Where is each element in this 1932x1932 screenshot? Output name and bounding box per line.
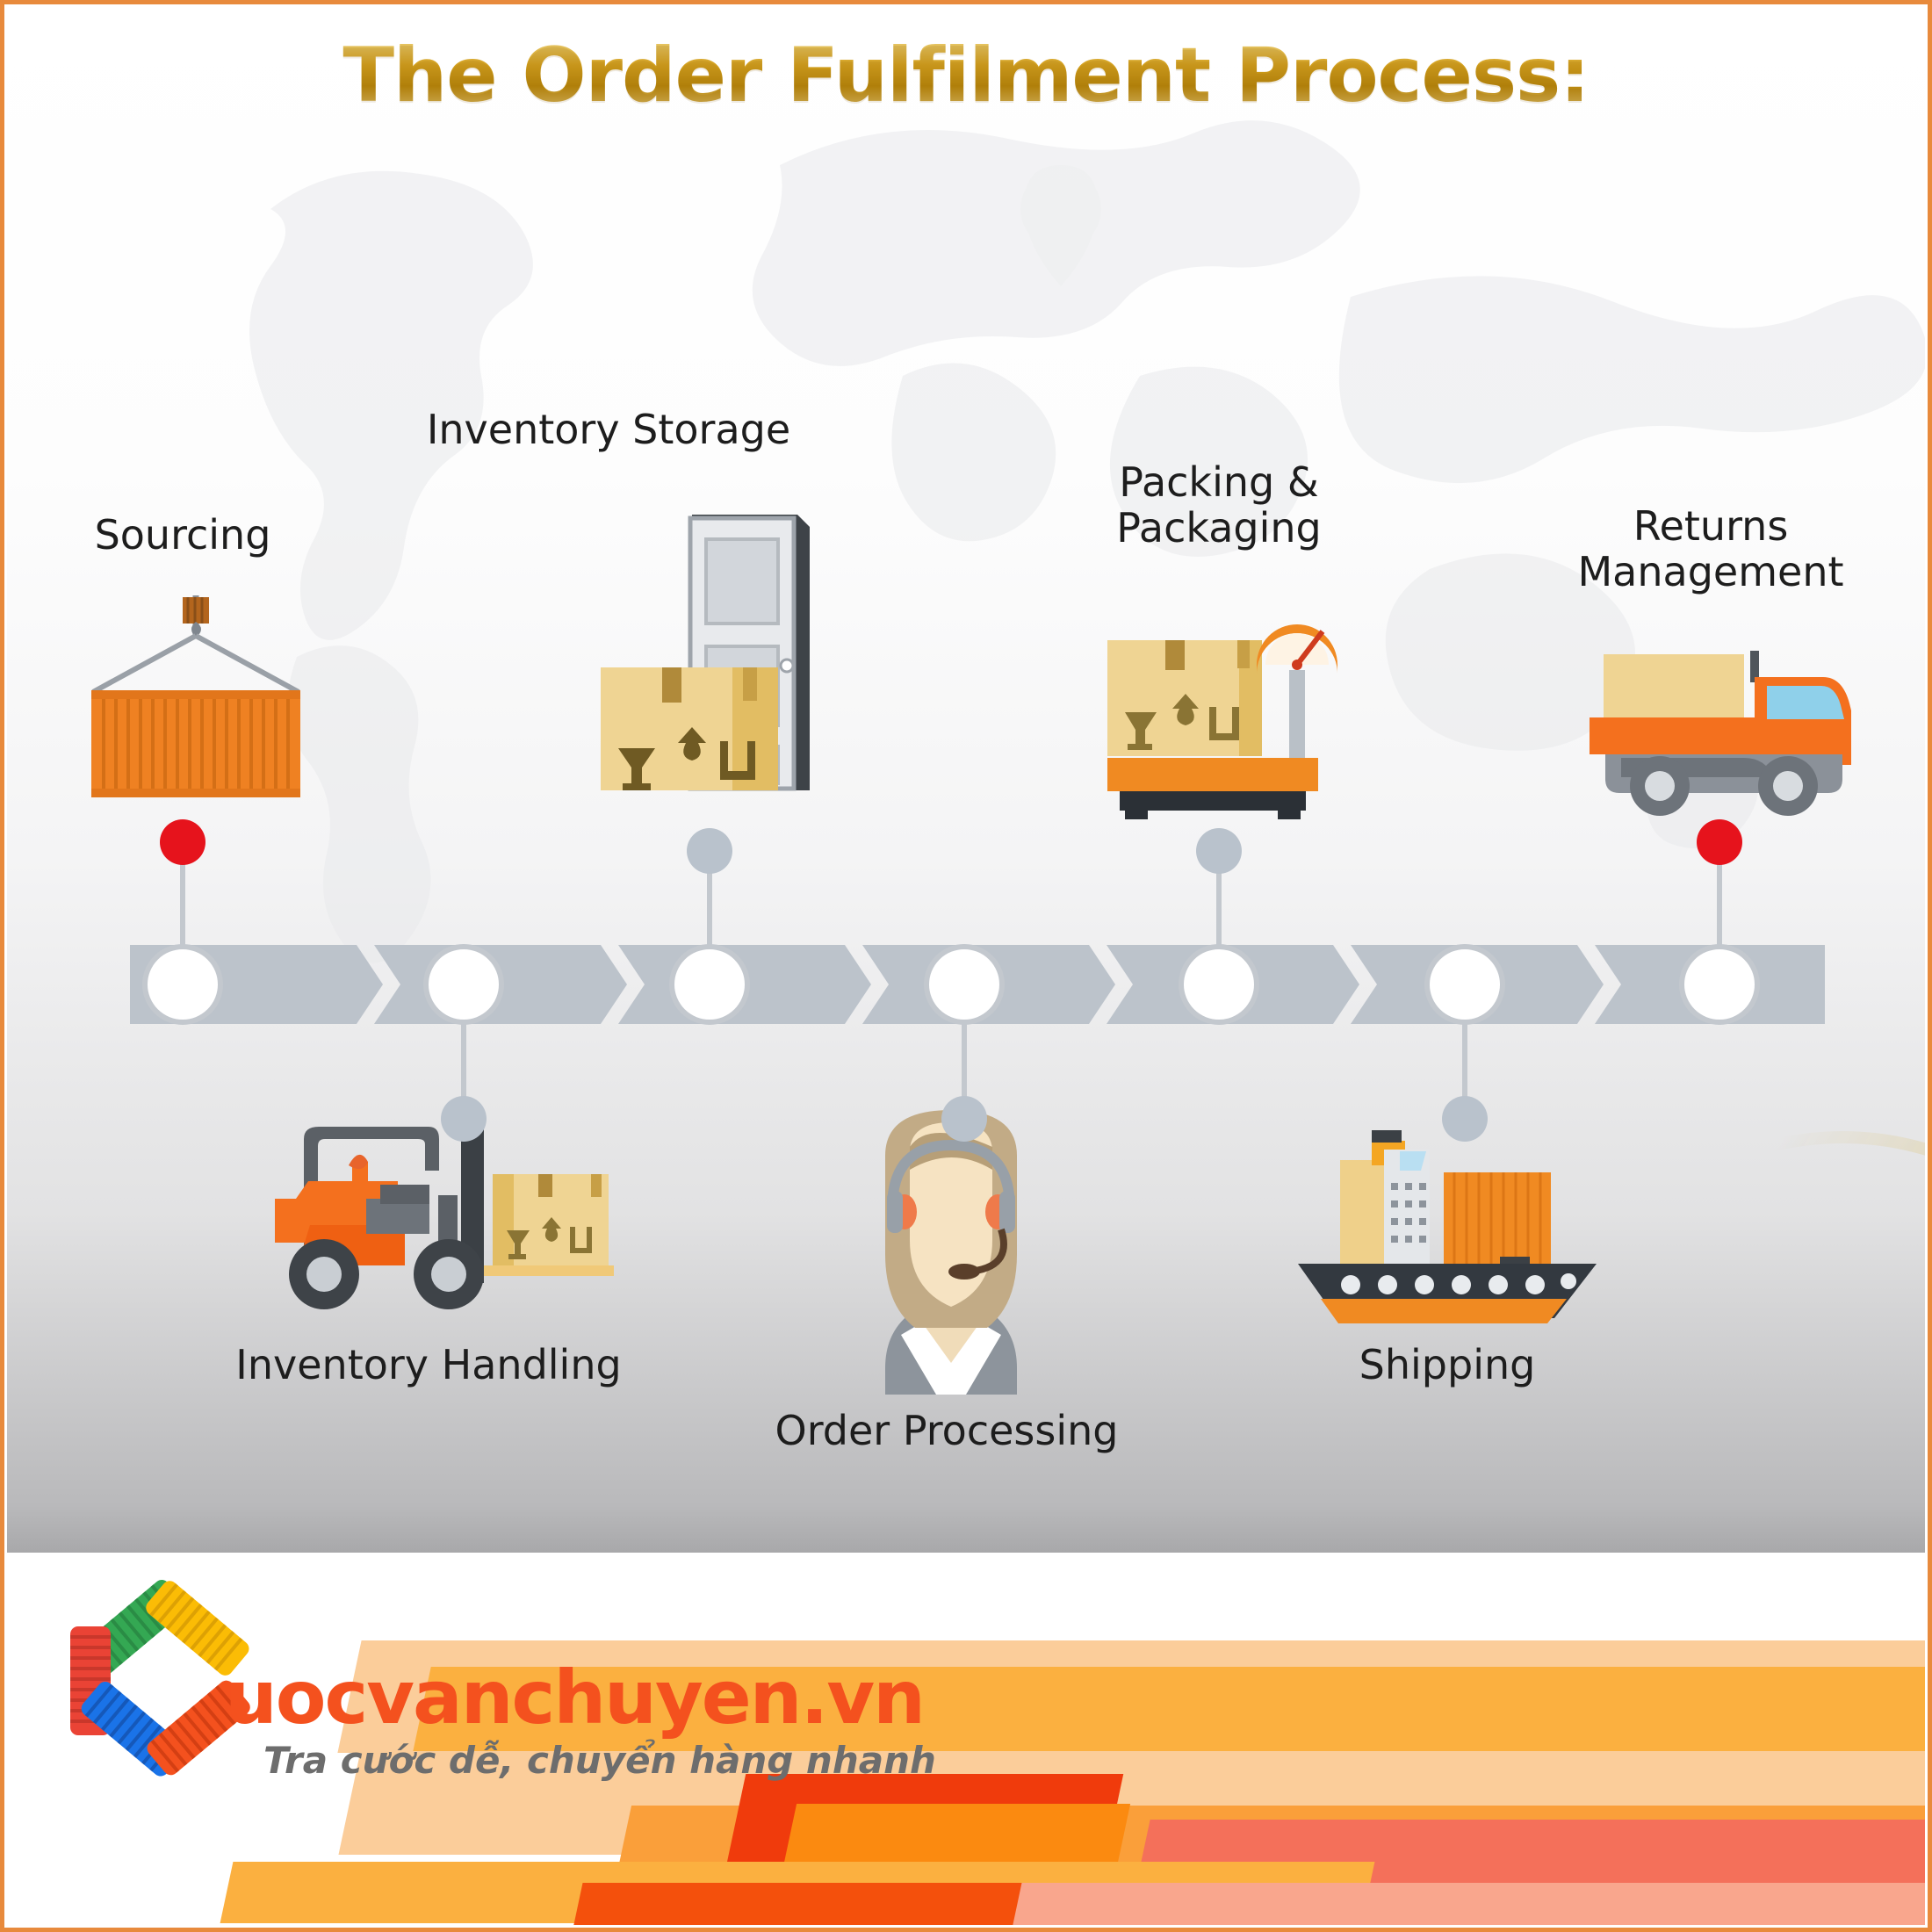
page-border [0,0,1932,1932]
